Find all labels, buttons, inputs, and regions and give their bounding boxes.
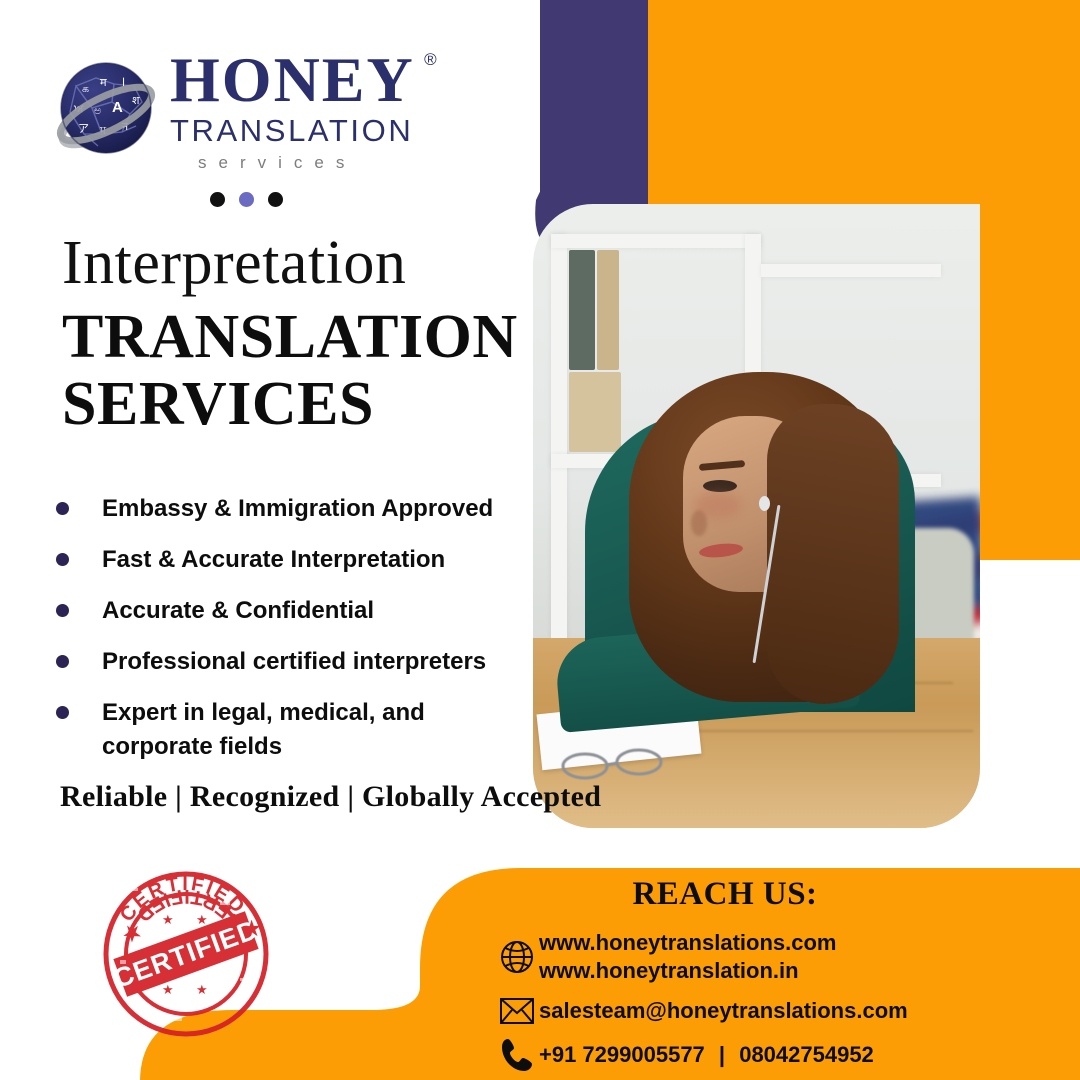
- bullet-dot-icon: [56, 706, 69, 719]
- svg-text:ಅ: ಅ: [94, 105, 101, 117]
- svg-text:★: ★: [162, 912, 174, 927]
- page-title: Interpretation TRANSLATION SERVICES: [62, 232, 518, 438]
- phone-number-2[interactable]: 08042754952: [739, 1042, 874, 1067]
- decor-dot-3: [268, 192, 283, 207]
- list-item: Fast & Accurate Interpretation: [56, 543, 526, 577]
- glasses-shape: [559, 746, 675, 780]
- tagline: Reliable | Recognized | Globally Accepte…: [60, 780, 601, 814]
- contact-row-email[interactable]: salesteam@honeytranslations.com: [495, 996, 1060, 1026]
- contact-row-phone[interactable]: +91 7299005577 | 08042754952: [495, 1037, 1060, 1073]
- decor-dot-1: [210, 192, 225, 207]
- list-item-label: Embassy & Immigration Approved: [102, 492, 493, 526]
- list-item: Accurate & Confidential: [56, 594, 526, 628]
- envelope-icon: [495, 996, 539, 1026]
- bullet-dot-icon: [56, 553, 69, 566]
- phone-separator: |: [711, 1042, 733, 1067]
- multilingual-globe-icon: கमا ਅಅ A शアমन: [52, 54, 164, 166]
- list-item-label: Fast & Accurate Interpretation: [102, 543, 445, 577]
- logo-secondary-name: TRANSLATION: [170, 113, 415, 149]
- decorative-dot-row: [210, 192, 283, 207]
- svg-text:★: ★: [162, 982, 174, 997]
- phone-icon: [495, 1037, 539, 1073]
- list-item-label: Expert in legal, medical, and corporate …: [102, 696, 462, 764]
- svg-text:म: म: [100, 77, 107, 89]
- website-url-2[interactable]: www.honeytranslation.in: [539, 957, 836, 985]
- registered-trademark-icon: ®: [424, 52, 439, 68]
- brand-logo[interactable]: கमا ਅಅ A शアমन HONEY ® TRANSLATION servic…: [52, 48, 452, 168]
- website-url-1[interactable]: www.honeytranslations.com: [539, 929, 836, 957]
- svg-text:ア: ア: [78, 123, 89, 135]
- feature-list: Embassy & Immigration Approved Fast & Ac…: [56, 492, 526, 781]
- globe-icon: [495, 939, 539, 975]
- interpreter-photo: [533, 204, 980, 828]
- headline-bold-line-2: SERVICES: [62, 371, 518, 438]
- svg-text:★: ★: [196, 912, 208, 927]
- list-item-label: Accurate & Confidential: [102, 594, 374, 628]
- headline-bold-line-1: TRANSLATION: [62, 304, 518, 371]
- svg-text:★: ★: [196, 982, 208, 997]
- contact-section: REACH US: www.honeytranslations.com www.…: [440, 876, 1060, 1080]
- decor-dot-2: [239, 192, 254, 207]
- contact-row-website[interactable]: www.honeytranslations.com www.honeytrans…: [495, 929, 1060, 985]
- email-address[interactable]: salesteam@honeytranslations.com: [539, 997, 908, 1025]
- list-item: Embassy & Immigration Approved: [56, 492, 526, 526]
- svg-text:க: க: [82, 83, 89, 95]
- svg-text:A: A: [112, 99, 123, 116]
- contact-heading: REACH US:: [390, 876, 1060, 913]
- poster-canvas: கमا ਅಅ A शアমन HONEY ® TRANSLATION servic…: [0, 0, 1080, 1080]
- svg-text:श: श: [132, 95, 140, 107]
- list-item: Expert in legal, medical, and corporate …: [56, 696, 526, 764]
- bullet-dot-icon: [56, 604, 69, 617]
- phone-number-1[interactable]: +91 7299005577: [539, 1042, 705, 1067]
- bullet-dot-icon: [56, 502, 69, 515]
- headline-script-line: Interpretation: [62, 232, 518, 294]
- bullet-dot-icon: [56, 655, 69, 668]
- certified-stamp-icon: CERTIFIED CERTIFIED ★ CERTIFIED ★ ★★ ★★: [100, 868, 272, 1040]
- list-item-label: Professional certified interpreters: [102, 645, 486, 679]
- logo-tertiary-name: services: [170, 153, 415, 173]
- logo-primary-name: HONEY ®: [170, 50, 415, 111]
- list-item: Professional certified interpreters: [56, 645, 526, 679]
